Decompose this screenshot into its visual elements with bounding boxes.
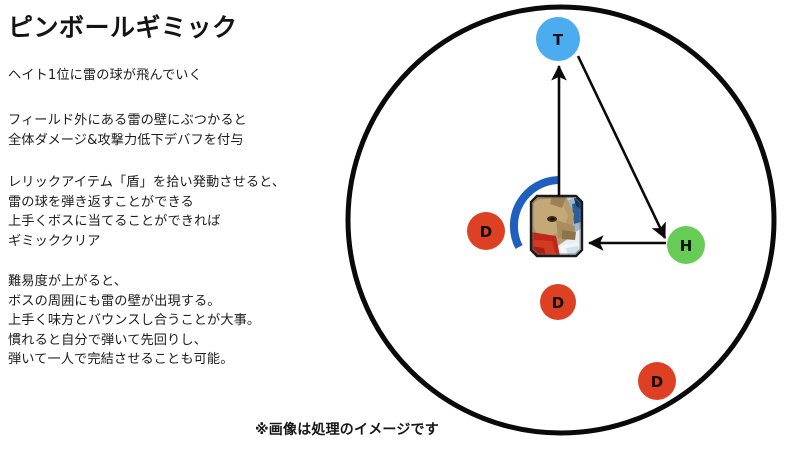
node-healer: H [667, 226, 705, 264]
dps-label-1: D [480, 223, 492, 241]
slide-canvas: ピンボールギミック ヘイト1位に雷の球が飛んでいく フィールド外にある雷の壁にぶ… [0, 0, 800, 449]
node-dps-1: D [467, 212, 505, 250]
arrow-tank-to-healer [578, 56, 665, 238]
boss-portrait [531, 196, 582, 256]
dps-label-3: D [651, 373, 663, 391]
image-disclaimer-caption: ※画像は処理のイメージです [255, 419, 439, 439]
healer-label: H [680, 237, 693, 255]
dps-label-2: D [552, 294, 564, 312]
tank-label: T [553, 31, 564, 49]
mechanic-diagram: T H D D D [0, 0, 800, 449]
node-dps-3: D [638, 362, 676, 400]
node-dps-2: D [540, 284, 576, 320]
node-tank: T [536, 17, 580, 61]
